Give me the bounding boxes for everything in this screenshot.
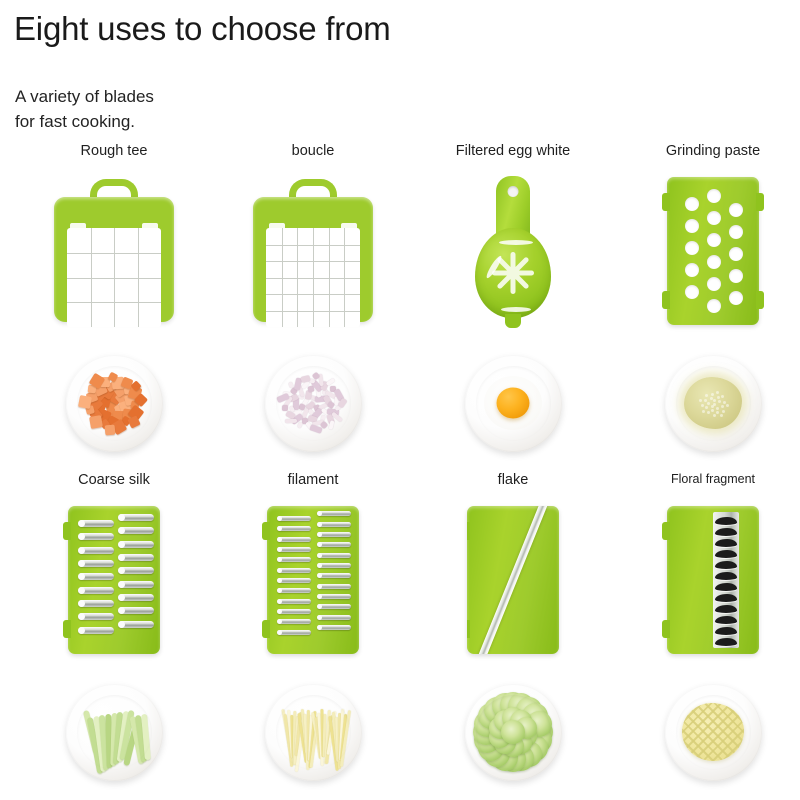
cutter-tooth xyxy=(118,554,154,561)
cutter-tooth xyxy=(118,541,154,548)
blade-clip-bottom-left xyxy=(262,620,270,638)
wave-tooth xyxy=(715,561,737,569)
grid-line-vertical xyxy=(344,228,345,327)
cutter-tooth xyxy=(277,537,311,542)
carrot-cube xyxy=(101,386,115,400)
onion-piece xyxy=(331,411,343,422)
cucumber-slice xyxy=(526,711,552,737)
onion-piece xyxy=(311,420,324,427)
onion-piece xyxy=(329,385,335,391)
carrot-cube xyxy=(128,405,145,422)
carrot-cube xyxy=(121,376,134,389)
potato-strip xyxy=(283,714,292,767)
cucumber-slice xyxy=(500,746,526,772)
cucumber-strip xyxy=(110,712,117,765)
cucumber-strip xyxy=(141,713,151,759)
carrot-cube xyxy=(134,393,148,407)
onion-piece xyxy=(288,393,299,402)
feature-cell-grinding-paste: Grinding paste xyxy=(613,143,800,463)
cutter-tooth xyxy=(118,567,154,574)
carrot-cube xyxy=(89,372,106,389)
grater-hole xyxy=(685,241,699,255)
onion-piece xyxy=(327,401,335,409)
onion-piece xyxy=(326,378,336,386)
onion-piece xyxy=(305,400,316,410)
wave-tooth xyxy=(715,605,737,613)
potato-strip xyxy=(331,711,338,761)
cucumber-slice xyxy=(522,735,548,761)
carrot-cube xyxy=(100,418,111,429)
blade-clip-top-right xyxy=(756,193,764,211)
onion-piece xyxy=(298,403,306,411)
carrot-cube xyxy=(107,415,121,429)
cucumber-strip xyxy=(82,709,98,753)
carrot-cube xyxy=(131,380,142,391)
carrot-cube xyxy=(108,372,119,383)
tool-image-grater-holes xyxy=(613,171,800,331)
potato-strip xyxy=(295,717,306,772)
cutter-tooth xyxy=(277,526,311,531)
blade-body xyxy=(253,197,373,322)
feature-label: Filtered egg white xyxy=(413,143,613,159)
potato-strip xyxy=(321,708,325,756)
grater-hole xyxy=(707,211,721,225)
carrot-cube xyxy=(86,396,103,413)
onion-piece xyxy=(301,375,311,383)
cucumber-slice xyxy=(502,707,524,729)
potato-strip xyxy=(328,716,338,771)
carrot-cube xyxy=(105,400,116,411)
onion-piece xyxy=(338,397,348,408)
onion-piece xyxy=(297,422,303,429)
tool-image-egg-separator xyxy=(413,171,613,331)
feature-cell-flake: flake xyxy=(413,472,613,792)
onion-piece xyxy=(321,415,326,422)
blade-body xyxy=(667,506,759,654)
grater-hole xyxy=(729,203,743,217)
carrot-cube xyxy=(89,408,103,422)
tool-image-julienne-fine xyxy=(213,500,413,660)
grater-hole xyxy=(685,219,699,233)
onion-piece xyxy=(302,417,309,424)
paste-texture-dot xyxy=(713,403,716,406)
onion-piece xyxy=(320,380,329,391)
onion-piece xyxy=(297,384,305,397)
wave-tooth xyxy=(715,638,737,646)
wave-tooth-strip xyxy=(713,512,739,648)
grater-hole xyxy=(729,247,743,261)
carrot-cube xyxy=(104,424,115,435)
cutter-tooth xyxy=(118,621,154,628)
onion-piece xyxy=(335,405,342,411)
onion-piece xyxy=(289,405,295,412)
page-title: Eight uses to choose from xyxy=(14,10,391,48)
feature-row-2: Coarse silk filament xyxy=(0,472,800,792)
cucumber-slice xyxy=(515,725,537,747)
paste-texture-dot xyxy=(716,407,719,410)
cutter-tooth xyxy=(118,581,154,588)
cutter-tooth xyxy=(317,511,351,516)
paste-texture-dot xyxy=(707,411,710,414)
cutter-tooth xyxy=(317,584,351,589)
grid-line-horizontal xyxy=(266,278,360,279)
subtitle-line-1: A variety of blades xyxy=(15,84,154,109)
feature-cell-boucle: boucle xyxy=(213,143,413,463)
page-subtitle: A variety of blades for fast cooking. xyxy=(15,84,154,134)
cucumber-slice xyxy=(500,692,526,718)
onion-piece xyxy=(318,374,324,386)
potato-strip xyxy=(294,711,301,755)
cutter-tooth xyxy=(78,627,114,634)
feature-row-1: Rough tee boucle xyxy=(0,143,800,463)
grid-line-horizontal xyxy=(67,302,161,303)
paste-blob xyxy=(684,377,742,429)
potato-strip xyxy=(290,714,294,757)
food-diced-carrot xyxy=(66,355,163,452)
result-plate-diced-carrot xyxy=(14,348,214,458)
grid-line-horizontal xyxy=(67,278,161,279)
onion-piece xyxy=(321,389,328,396)
cutter-tooth xyxy=(317,542,351,547)
cucumber-strip xyxy=(93,715,107,771)
egg-white-film xyxy=(484,376,542,430)
feature-label: Floral fragment xyxy=(613,472,800,486)
feature-cell-coarse-silk: Coarse silk xyxy=(14,472,214,792)
wave-tooth xyxy=(715,616,737,624)
onion-piece xyxy=(291,413,304,425)
cutter-tooth xyxy=(317,563,351,568)
cutter-tooth xyxy=(317,625,351,630)
onion-piece xyxy=(311,371,319,379)
onion-piece xyxy=(309,425,322,435)
paste-texture-dot xyxy=(718,400,721,403)
cutter-tooth xyxy=(78,547,114,554)
paste-texture-dot xyxy=(707,402,710,405)
grater-hole xyxy=(685,263,699,277)
paste-texture-dot xyxy=(716,391,719,394)
onion-piece xyxy=(290,387,298,395)
grater-hole xyxy=(729,269,743,283)
cutter-tooth xyxy=(78,600,114,607)
paste-texture-dot xyxy=(713,399,716,402)
grater-hole xyxy=(707,277,721,291)
cucumber-slice xyxy=(516,697,542,723)
product-infographic: Eight uses to choose from A variety of b… xyxy=(0,0,800,800)
onion-piece xyxy=(283,391,292,396)
cucumber-slice xyxy=(502,735,524,757)
cucumber-slice xyxy=(484,697,510,723)
cutter-tooth xyxy=(78,587,114,594)
grater-hole xyxy=(707,233,721,247)
cutter-tooth xyxy=(78,533,114,540)
paste-texture-dot xyxy=(701,404,704,407)
cucumber-slice xyxy=(510,710,532,732)
cucumber-strip xyxy=(116,710,129,761)
potato-strip xyxy=(293,715,299,764)
paste-texture-dot xyxy=(721,405,724,408)
onion-piece xyxy=(283,396,293,408)
cutter-tooth xyxy=(317,573,351,578)
subtitle-line-2: for fast cooking. xyxy=(15,109,154,134)
potato-strip xyxy=(297,713,307,763)
onion-piece xyxy=(309,378,316,384)
cucumber-slice xyxy=(473,719,499,745)
feature-cell-rough-tee: Rough tee xyxy=(14,143,214,463)
onion-piece xyxy=(300,408,308,421)
potato-strip xyxy=(317,712,323,765)
potato-strip xyxy=(292,710,295,764)
carrot-cube xyxy=(123,385,132,394)
cucumber-slice xyxy=(494,710,516,732)
feature-label: flake xyxy=(413,472,613,488)
cucumber-slice xyxy=(492,693,518,719)
grater-hole xyxy=(707,299,721,313)
onion-piece xyxy=(301,397,309,407)
cucumber-slice xyxy=(516,741,542,767)
result-plate-egg-yolk xyxy=(413,348,613,458)
cucumber-slice xyxy=(522,703,548,729)
potato-strip xyxy=(325,715,333,764)
carrot-cube xyxy=(128,386,143,401)
feature-label: Coarse silk xyxy=(14,472,214,488)
wave-tooth xyxy=(715,517,737,525)
cutter-tooth xyxy=(277,599,311,604)
cutter-tooth xyxy=(277,547,311,552)
onion-piece xyxy=(334,396,338,405)
blade-grid-mesh xyxy=(67,228,161,327)
cutter-tooth xyxy=(277,578,311,583)
carrot-cube xyxy=(89,415,103,429)
carrot-cube xyxy=(127,415,140,428)
blade-clip-bottom-left xyxy=(63,620,71,638)
tool-image-grid-blade-fine xyxy=(213,171,413,331)
carrot-cube xyxy=(99,396,111,408)
blade-clip-top-left xyxy=(467,522,470,540)
onion-piece xyxy=(282,404,288,410)
onion-piece xyxy=(285,419,297,423)
blade-grid-mesh xyxy=(266,228,360,327)
blade-clip-bottom-left xyxy=(662,620,670,638)
carrot-cube xyxy=(114,404,125,415)
wave-tooth xyxy=(715,594,737,602)
paste-texture-dot xyxy=(705,406,708,409)
blade-clip-bottom-right xyxy=(756,291,764,309)
bowl-highlight xyxy=(499,240,533,245)
cucumber-slice xyxy=(515,717,537,739)
grater-hole xyxy=(685,285,699,299)
grater-hole xyxy=(729,291,743,305)
result-plate-waffle-potato xyxy=(613,677,800,787)
separator-bowl xyxy=(475,228,551,318)
food-egg-yolk xyxy=(465,355,562,452)
carrot-cube xyxy=(85,405,95,415)
feature-label: Rough tee xyxy=(14,143,214,159)
paste-texture-dot xyxy=(710,397,713,400)
potato-strip xyxy=(308,714,313,760)
potato-strip xyxy=(307,709,310,760)
separator-tip xyxy=(505,314,521,328)
blade-body xyxy=(267,506,359,654)
blade-body xyxy=(467,506,559,654)
cucumber-slice xyxy=(489,726,511,748)
carrot-cube xyxy=(113,410,125,422)
egg-yolk xyxy=(497,388,530,419)
onion-piece xyxy=(305,421,314,430)
cucumber-slice xyxy=(508,745,534,771)
onion-piece xyxy=(326,414,335,424)
paste-texture-dot xyxy=(704,399,707,402)
carrot-cube xyxy=(108,397,119,408)
onion-piece xyxy=(301,380,310,389)
paste-texture-dot xyxy=(711,409,714,412)
onion-piece xyxy=(326,408,339,415)
hanging-hole-icon xyxy=(508,186,519,197)
carrot-cube xyxy=(96,408,112,424)
bowl-highlight xyxy=(501,307,531,312)
cutter-tooth xyxy=(317,522,351,527)
onion-piece xyxy=(325,390,337,399)
cutter-tooth xyxy=(317,553,351,558)
onion-piece xyxy=(316,388,322,398)
potato-strip xyxy=(281,709,291,751)
carrot-cube xyxy=(94,390,105,401)
paste-texture-dot xyxy=(721,395,724,398)
cutter-tooth xyxy=(277,619,311,624)
potato-strip xyxy=(340,713,347,759)
cutter-tooth xyxy=(277,588,311,593)
onion-piece xyxy=(293,411,302,416)
carrot-cube xyxy=(113,384,127,398)
carrot-cube xyxy=(96,403,106,413)
waffle-lattice xyxy=(682,703,744,761)
paste-texture-dot xyxy=(726,404,729,407)
cucumber-strip xyxy=(105,713,113,767)
onion-piece xyxy=(276,393,289,403)
carrot-cube xyxy=(92,381,108,397)
wave-tooth xyxy=(715,583,737,591)
blade-body xyxy=(68,506,160,654)
result-plate-cucumber-strips xyxy=(14,677,214,787)
cutter-tooth xyxy=(317,615,351,620)
onion-piece xyxy=(304,390,312,400)
carrot-cube xyxy=(124,393,136,405)
paste-texture-dot xyxy=(711,393,714,396)
potato-strip xyxy=(326,711,336,755)
paste-texture-dot xyxy=(720,414,723,417)
cucumber-slice-center xyxy=(501,720,525,744)
grid-line-vertical xyxy=(329,228,330,327)
feature-cell-floral-fragment: Floral fragment xyxy=(613,472,800,792)
result-plate-minced-onion xyxy=(213,348,413,458)
onion-piece xyxy=(329,420,335,430)
onion-piece xyxy=(313,404,321,412)
potato-strip xyxy=(339,708,344,759)
feature-label: boucle xyxy=(213,143,413,159)
grid-line-horizontal xyxy=(266,294,360,295)
carrot-cube xyxy=(100,377,110,387)
carrot-cube xyxy=(106,389,122,405)
cutter-tooth xyxy=(118,527,154,534)
onion-piece xyxy=(285,410,296,420)
cucumber-strip xyxy=(87,716,104,773)
carrot-cube xyxy=(120,415,131,426)
potato-strip xyxy=(315,716,323,758)
tool-image-julienne-coarse xyxy=(14,500,214,660)
cucumber-strip xyxy=(123,716,141,765)
carrot-cube xyxy=(114,389,131,406)
cutter-tooth xyxy=(317,532,351,537)
cutter-tooth xyxy=(118,514,154,521)
wave-tooth xyxy=(715,528,737,536)
carrot-cube xyxy=(107,409,115,417)
paste-texture-dot xyxy=(705,394,708,397)
tool-image-grid-blade-coarse xyxy=(14,171,214,331)
carrot-cube xyxy=(111,418,127,434)
cucumber-slice xyxy=(478,703,504,729)
blade-body xyxy=(54,197,174,322)
onion-piece xyxy=(288,382,294,389)
blade-clip-top-left xyxy=(662,522,670,540)
paste-texture-dot xyxy=(711,405,714,408)
result-plate-cucumber-slices xyxy=(413,677,613,787)
cutter-tooth xyxy=(78,613,114,620)
carrot-cube xyxy=(78,394,92,408)
cucumber-strip xyxy=(129,715,144,763)
cutter-tooth xyxy=(277,609,311,614)
onion-piece xyxy=(307,408,314,415)
onion-piece xyxy=(311,400,315,406)
feature-label: filament xyxy=(213,472,413,488)
onion-piece xyxy=(307,415,317,423)
wave-tooth xyxy=(715,539,737,547)
potato-strip xyxy=(324,709,330,763)
cutter-tooth xyxy=(317,604,351,609)
food-potato-julienne xyxy=(265,684,362,781)
cucumber-strip xyxy=(113,711,123,763)
carrot-cube xyxy=(112,376,125,389)
cutter-tooth xyxy=(118,607,154,614)
cutter-tooth xyxy=(277,568,311,573)
paste-texture-dot xyxy=(717,396,720,399)
paste-texture-dot xyxy=(702,410,705,413)
blade-body xyxy=(667,177,759,325)
carrot-cube xyxy=(123,408,134,419)
cucumber-slice xyxy=(474,727,500,753)
potato-strip xyxy=(287,709,293,757)
onion-piece xyxy=(320,421,328,429)
diagonal-slicing-blade xyxy=(477,506,549,654)
paste-texture-dot xyxy=(722,410,725,413)
onion-piece xyxy=(317,402,330,411)
cucumber-strip xyxy=(120,709,135,759)
tool-image-waffle-blade xyxy=(613,500,800,660)
potato-strip xyxy=(310,716,320,768)
onion-piece xyxy=(307,394,320,401)
cucumber-slice xyxy=(527,719,553,745)
onion-piece xyxy=(321,408,331,417)
tool-image-slicer-diagonal xyxy=(413,500,613,660)
cutter-tooth xyxy=(78,520,114,527)
paste-texture-dot xyxy=(716,411,719,414)
food-cucumber-slices xyxy=(465,684,562,781)
cucumber-slice xyxy=(484,741,510,767)
blade-clip-top-left xyxy=(63,522,71,540)
cucumber-strip xyxy=(99,714,109,769)
onion-piece xyxy=(311,408,324,421)
food-minced-onion xyxy=(265,355,362,452)
grater-hole xyxy=(685,197,699,211)
cucumber-slice xyxy=(510,732,532,754)
